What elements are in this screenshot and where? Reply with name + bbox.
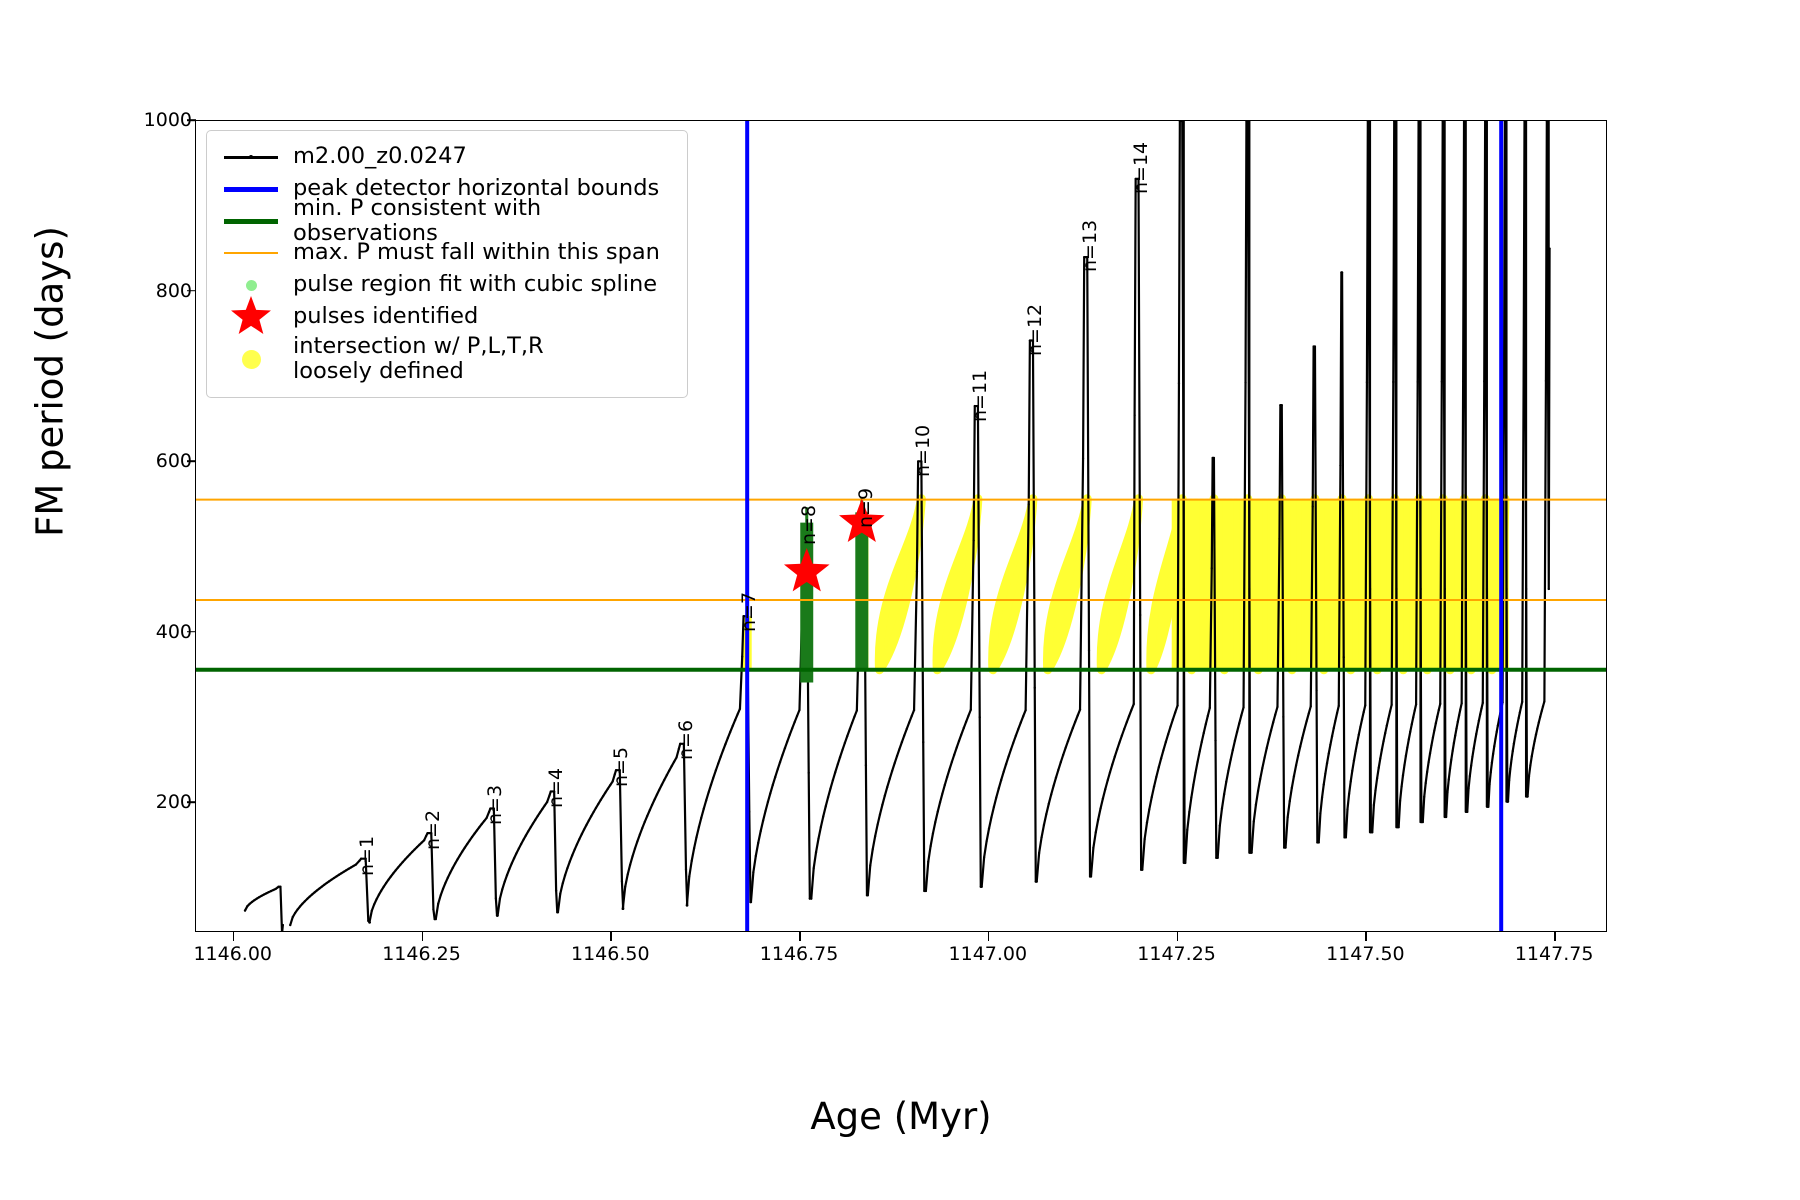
data-point <box>1259 778 1261 780</box>
data-point <box>1453 742 1455 744</box>
data-point <box>529 826 531 828</box>
pulse-annotation: n=6 <box>675 720 697 760</box>
curve-segment <box>558 770 623 912</box>
data-point <box>993 806 995 808</box>
x-tick-label: 1146.00 <box>153 943 313 965</box>
data-point <box>1399 800 1401 802</box>
x-tick-mark <box>799 932 801 941</box>
legend-item[interactable]: pulses identified <box>219 301 675 333</box>
curve-segment <box>1091 179 1141 877</box>
data-point <box>1274 713 1276 715</box>
data-point <box>604 791 606 793</box>
data-point <box>411 851 413 853</box>
data-point <box>1028 503 1030 505</box>
data-point <box>1510 758 1512 760</box>
data-point <box>908 721 910 723</box>
data-point <box>784 747 786 749</box>
data-point <box>461 850 463 852</box>
data-point <box>1323 784 1325 786</box>
data-point <box>1015 735 1017 737</box>
data-point <box>722 749 724 751</box>
data-point <box>418 844 420 846</box>
data-point <box>311 893 313 895</box>
data-point <box>576 843 578 845</box>
data-point <box>1543 700 1545 702</box>
data-point <box>573 849 575 851</box>
data-point <box>1364 704 1366 706</box>
data-point <box>1471 756 1473 758</box>
data-point <box>639 833 641 835</box>
data-point <box>432 908 434 910</box>
data-point <box>504 881 506 883</box>
data-point <box>1190 796 1192 798</box>
data-point <box>1532 747 1534 749</box>
data-point <box>1205 723 1207 725</box>
pulse-annotation: n=3 <box>484 785 506 825</box>
data-point <box>1315 689 1317 691</box>
data-point <box>1319 812 1321 814</box>
data-point <box>581 833 583 835</box>
data-point <box>1125 721 1127 723</box>
data-point <box>1118 741 1120 743</box>
data-point <box>1289 800 1291 802</box>
data-point <box>1427 761 1429 763</box>
data-point <box>810 898 812 900</box>
data-point <box>703 808 705 810</box>
data-point <box>506 874 508 876</box>
data-point <box>1324 772 1326 774</box>
data-point <box>1196 761 1198 763</box>
pulse-annotation: n=2 <box>422 810 444 850</box>
data-point <box>963 727 965 729</box>
data-point <box>1348 793 1350 795</box>
data-point <box>815 851 817 853</box>
data-point <box>380 889 382 891</box>
data-point <box>592 811 594 813</box>
data-point <box>1459 708 1461 710</box>
pulse-annotation: n=10 <box>912 425 934 477</box>
data-point <box>841 749 843 751</box>
data-point <box>508 868 510 870</box>
curve-segment <box>1142 121 1184 870</box>
data-point <box>1539 716 1541 718</box>
data-point <box>698 826 700 828</box>
data-point <box>478 826 480 828</box>
data-point <box>663 779 665 781</box>
data-point <box>1310 705 1312 707</box>
data-point <box>385 882 387 884</box>
data-point <box>1314 345 1316 347</box>
data-point <box>1263 757 1265 759</box>
data-point <box>767 801 769 803</box>
data-point <box>289 924 291 926</box>
data-point <box>299 905 301 907</box>
data-point <box>686 904 688 906</box>
data-point <box>719 756 721 758</box>
data-point <box>884 794 886 796</box>
data-point <box>1435 722 1437 724</box>
data-point <box>1069 733 1071 735</box>
legend-label: m2.00_z0.0247 <box>293 144 467 169</box>
data-point <box>1515 729 1517 731</box>
data-point <box>889 778 891 780</box>
data-point <box>1034 687 1036 689</box>
data-point <box>898 748 900 750</box>
data-point <box>495 897 497 899</box>
data-point <box>1060 761 1062 763</box>
data-point <box>937 811 939 813</box>
data-point <box>710 784 712 786</box>
data-point <box>532 822 534 824</box>
curve-segment <box>1218 121 1251 858</box>
data-point <box>1387 717 1389 719</box>
data-point <box>1143 838 1145 840</box>
data-point <box>1373 804 1375 806</box>
data-point <box>260 895 262 897</box>
data-point <box>583 828 585 830</box>
data-point <box>1333 727 1335 729</box>
data-point <box>825 805 827 807</box>
data-point <box>1092 847 1094 849</box>
data-point <box>406 856 408 858</box>
data-point <box>1454 734 1456 736</box>
data-point <box>1466 811 1468 813</box>
data-point <box>941 792 943 794</box>
data-point <box>296 908 298 910</box>
data-point <box>1282 716 1284 718</box>
data-point <box>390 875 392 877</box>
data-point <box>375 898 377 900</box>
data-point <box>321 885 323 887</box>
data-point <box>621 880 623 882</box>
data-point <box>1331 735 1333 737</box>
data-point <box>851 722 853 724</box>
data-point <box>569 860 571 862</box>
data-point <box>1475 733 1477 735</box>
data-point <box>817 838 819 840</box>
x-tick-mark <box>988 932 990 941</box>
data-point <box>1497 724 1499 726</box>
data-point <box>1438 709 1440 711</box>
x-tick-mark <box>610 932 612 941</box>
data-point <box>1461 702 1463 704</box>
curve-segment <box>1423 121 1446 822</box>
data-point <box>343 871 345 873</box>
data-point <box>326 882 328 884</box>
data-point <box>1411 723 1413 725</box>
data-point <box>1536 727 1538 729</box>
data-point <box>729 731 731 733</box>
data-point <box>409 853 411 855</box>
data-point <box>1176 704 1178 706</box>
legend-box: m2.00_z0.0247peak detector horizontal bo… <box>206 130 688 398</box>
data-point <box>1109 771 1111 773</box>
data-point <box>340 872 342 874</box>
data-point <box>1473 747 1475 749</box>
data-point <box>537 815 539 817</box>
data-point <box>1354 750 1356 752</box>
data-point <box>1487 806 1489 808</box>
data-point <box>1521 701 1523 703</box>
legend-label: pulses identified <box>293 304 478 329</box>
data-point <box>1362 711 1364 713</box>
curve-segment <box>1399 121 1422 827</box>
data-point <box>496 915 498 917</box>
data-point <box>335 875 337 877</box>
data-point <box>1074 721 1076 723</box>
data-point <box>1305 720 1307 722</box>
data-point <box>776 768 778 770</box>
data-point <box>1423 796 1425 798</box>
data-point <box>1257 790 1259 792</box>
data-point <box>849 728 851 730</box>
data-point <box>1123 728 1125 730</box>
data-point <box>1188 811 1190 813</box>
curve-segment <box>1467 121 1487 812</box>
data-point <box>1146 822 1148 824</box>
data-point <box>246 905 248 907</box>
data-point <box>275 888 277 890</box>
data-point <box>1470 765 1472 767</box>
data-point <box>1345 836 1347 838</box>
data-point <box>1090 875 1092 877</box>
curve-segment <box>1508 121 1527 802</box>
data-point <box>951 761 953 763</box>
legend-marker-dot <box>249 155 253 159</box>
data-point <box>1353 760 1355 762</box>
data-point <box>559 892 561 894</box>
x-tick-mark <box>233 932 235 941</box>
pulse-annotation: n=5 <box>610 747 632 787</box>
data-point <box>447 876 449 878</box>
data-point <box>1405 755 1407 757</box>
data-point <box>471 836 473 838</box>
curve-segment <box>623 744 687 909</box>
data-point <box>1350 780 1352 782</box>
data-point <box>1366 381 1368 383</box>
data-point <box>1007 755 1009 757</box>
data-point <box>501 888 503 890</box>
data-point <box>1406 746 1408 748</box>
data-point <box>442 888 444 890</box>
data-point <box>834 771 836 773</box>
data-point <box>1217 857 1219 859</box>
data-point <box>292 916 294 918</box>
data-point <box>927 861 929 863</box>
data-point <box>948 768 950 770</box>
data-point <box>752 871 754 873</box>
data-point <box>1236 731 1238 733</box>
data-point <box>444 882 446 884</box>
data-point <box>910 715 912 717</box>
data-point <box>946 776 948 778</box>
data-point <box>1389 710 1391 712</box>
data-point <box>294 912 296 914</box>
data-point <box>1141 869 1143 871</box>
data-point <box>1343 656 1345 658</box>
data-point <box>1295 764 1297 766</box>
data-point <box>791 727 793 729</box>
data-point <box>932 832 934 834</box>
data-point <box>1496 731 1498 733</box>
data-point <box>602 795 604 797</box>
data-point <box>1022 715 1024 717</box>
y-tick-label: 800 <box>72 280 192 302</box>
data-point <box>449 871 451 873</box>
data-point <box>1017 728 1019 730</box>
data-point <box>1381 748 1383 750</box>
data-point <box>392 872 394 874</box>
data-point <box>944 784 946 786</box>
data-point <box>1341 271 1343 273</box>
data-point <box>1038 852 1040 854</box>
data-point <box>772 784 774 786</box>
data-point <box>562 882 564 884</box>
data-point <box>1281 404 1283 406</box>
legend-key-dot-yellow <box>219 344 283 374</box>
data-point <box>644 821 646 823</box>
data-point <box>1529 764 1531 766</box>
legend-item[interactable]: intersection w/ P,L,T,R loosely defined <box>219 333 675 385</box>
data-point <box>1490 771 1492 773</box>
legend-label: pulse region fit with cubic spline <box>293 272 657 297</box>
data-point <box>1209 707 1211 709</box>
data-point <box>1469 775 1471 777</box>
data-point <box>350 866 352 868</box>
pulse-annotation: n=9 <box>855 488 877 528</box>
data-point <box>1155 776 1157 778</box>
data-point <box>916 570 918 572</box>
data-point <box>1151 796 1153 798</box>
data-point <box>588 819 590 821</box>
data-point <box>846 735 848 737</box>
data-point <box>796 715 798 717</box>
data-point <box>705 799 707 801</box>
pulse-annotation: n=12 <box>1024 304 1046 356</box>
data-point <box>1036 881 1038 883</box>
x-tick-label: 1147.00 <box>908 943 1068 965</box>
data-point <box>622 908 624 910</box>
curve-segment <box>1488 121 1507 807</box>
pulse-annotation: n=13 <box>1079 220 1101 272</box>
legend-label: max. P must fall within this span <box>293 240 660 265</box>
data-point <box>1291 787 1293 789</box>
data-point <box>1491 761 1493 763</box>
data-point <box>387 879 389 881</box>
data-point <box>527 830 529 832</box>
data-point <box>1052 785 1054 787</box>
data-point <box>352 865 354 867</box>
y-tick-label: 400 <box>72 621 192 643</box>
data-point <box>1328 752 1330 754</box>
legend-key-line-green <box>219 206 283 236</box>
data-point <box>695 836 697 838</box>
data-point <box>1088 649 1090 651</box>
data-point <box>903 734 905 736</box>
data-point <box>798 709 800 711</box>
data-point <box>539 811 541 813</box>
data-point <box>1169 726 1171 728</box>
data-point <box>1184 862 1186 864</box>
data-point <box>313 891 315 893</box>
data-point <box>1167 733 1169 735</box>
data-point <box>1076 715 1078 717</box>
data-point <box>1321 796 1323 798</box>
data-point <box>653 798 655 800</box>
data-point <box>648 809 650 811</box>
data-point <box>1494 738 1496 740</box>
data-point <box>874 835 876 837</box>
data-point <box>1482 702 1484 704</box>
data-point <box>1276 706 1278 708</box>
data-point <box>1359 726 1361 728</box>
data-point <box>1072 727 1074 729</box>
data-point <box>256 897 258 899</box>
data-point <box>1479 713 1481 715</box>
data-point <box>1045 813 1047 815</box>
data-point <box>891 770 893 772</box>
data-point <box>1099 808 1101 810</box>
data-point <box>571 854 573 856</box>
data-point <box>631 855 633 857</box>
x-tick-mark <box>1177 932 1179 941</box>
data-point <box>607 788 609 790</box>
data-point <box>1540 710 1542 712</box>
data-point <box>279 886 281 888</box>
data-point <box>272 889 274 891</box>
data-point <box>781 754 783 756</box>
data-point <box>693 847 695 849</box>
data-point <box>1376 777 1378 779</box>
data-point <box>1548 588 1550 590</box>
data-point <box>990 816 992 818</box>
legend-item[interactable]: pulse region fit with cubic spline <box>219 269 675 301</box>
data-point <box>1339 464 1341 466</box>
data-point <box>1336 712 1338 714</box>
data-point <box>309 895 311 897</box>
data-point <box>712 776 714 778</box>
data-point <box>378 894 380 896</box>
data-point <box>1286 816 1288 818</box>
data-point <box>1148 808 1150 810</box>
figure-canvas: FM period (days) Age (Myr) 2004006008001… <box>0 0 1800 1200</box>
data-point <box>764 810 766 812</box>
data-point <box>1130 709 1132 711</box>
data-point <box>282 924 284 926</box>
data-point <box>1192 783 1194 785</box>
legend-item[interactable]: m2.00_z0.0247 <box>219 141 675 173</box>
data-point <box>1476 726 1478 728</box>
data-point <box>1430 744 1432 746</box>
legend-item[interactable]: max. P must fall within this span <box>219 237 675 269</box>
data-point <box>739 708 741 710</box>
data-point <box>1334 719 1336 721</box>
data-point <box>1441 381 1443 383</box>
data-point <box>1005 763 1007 765</box>
data-point <box>1508 779 1510 781</box>
data-point <box>922 741 924 743</box>
x-tick-label: 1146.50 <box>530 943 690 965</box>
data-point <box>1409 731 1411 733</box>
data-point <box>1449 768 1451 770</box>
data-point <box>345 869 347 871</box>
legend-item[interactable]: min. P consistent with observations <box>219 205 675 237</box>
data-point <box>1522 380 1524 382</box>
data-point <box>1531 755 1533 757</box>
data-point <box>839 756 841 758</box>
curve-segment <box>1446 121 1466 817</box>
data-point <box>515 852 517 854</box>
